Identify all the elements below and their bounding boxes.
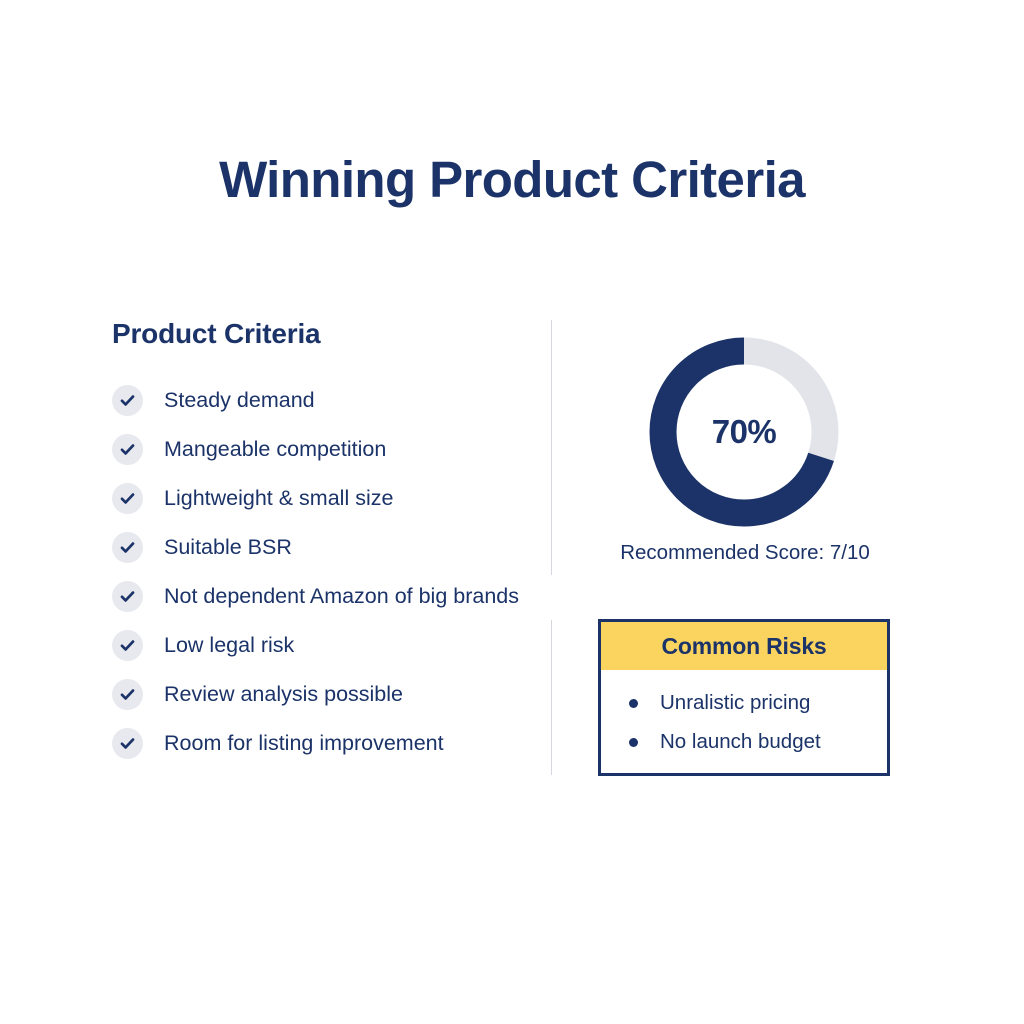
- check-icon: [112, 434, 143, 465]
- common-risks-box: Common Risks Unralistic pricing No launc…: [598, 619, 890, 776]
- donut-center-value: 70%: [646, 334, 842, 530]
- list-item-label: Low legal risk: [164, 635, 294, 657]
- common-risks-title: Common Risks: [601, 622, 887, 670]
- list-item[interactable]: Mangeable competition: [112, 425, 542, 474]
- list-item-label: Steady demand: [164, 390, 315, 412]
- list-item-label: Review analysis possible: [164, 684, 403, 706]
- list-item[interactable]: Steady demand: [112, 376, 542, 425]
- section-heading-product-criteria: Product Criteria: [112, 318, 542, 350]
- recommended-score-caption: Recommended Score: 7/10: [560, 541, 930, 565]
- check-icon: [112, 728, 143, 759]
- bullet-icon: [629, 699, 638, 708]
- bullet-icon: [629, 738, 638, 747]
- list-item-label: No launch budget: [660, 732, 821, 753]
- list-item-label: Mangeable competition: [164, 439, 386, 461]
- check-icon: [112, 679, 143, 710]
- list-item-label: Suitable BSR: [164, 537, 292, 559]
- check-icon: [112, 630, 143, 661]
- page-title: Winning Product Criteria: [0, 152, 1024, 208]
- list-item[interactable]: Suitable BSR: [112, 523, 542, 572]
- list-item[interactable]: Unralistic pricing: [601, 684, 887, 723]
- list-item-label: Not dependent Amazon of big brands: [164, 586, 519, 608]
- product-criteria-panel: Product Criteria Steady demand Mangeable…: [112, 318, 542, 768]
- check-icon: [112, 532, 143, 563]
- list-item[interactable]: Lightweight & small size: [112, 474, 542, 523]
- check-icon: [112, 483, 143, 514]
- check-icon: [112, 385, 143, 416]
- check-icon: [112, 581, 143, 612]
- column-divider-lower: [551, 620, 552, 775]
- list-item[interactable]: Not dependent Amazon of big brands: [112, 572, 542, 621]
- criteria-list: Steady demand Mangeable competition Ligh…: [112, 376, 542, 768]
- score-donut-chart: 70%: [646, 334, 842, 530]
- list-item-label: Unralistic pricing: [660, 693, 810, 714]
- column-divider-upper: [551, 320, 552, 575]
- list-item[interactable]: No launch budget: [601, 723, 887, 762]
- common-risks-list: Unralistic pricing No launch budget: [601, 670, 887, 762]
- list-item-label: Room for listing improvement: [164, 733, 444, 755]
- list-item[interactable]: Review analysis possible: [112, 670, 542, 719]
- list-item[interactable]: Low legal risk: [112, 621, 542, 670]
- infographic-card: Winning Product Criteria Product Criteri…: [0, 0, 1024, 1024]
- list-item[interactable]: Room for listing improvement: [112, 719, 542, 768]
- list-item-label: Lightweight & small size: [164, 488, 393, 510]
